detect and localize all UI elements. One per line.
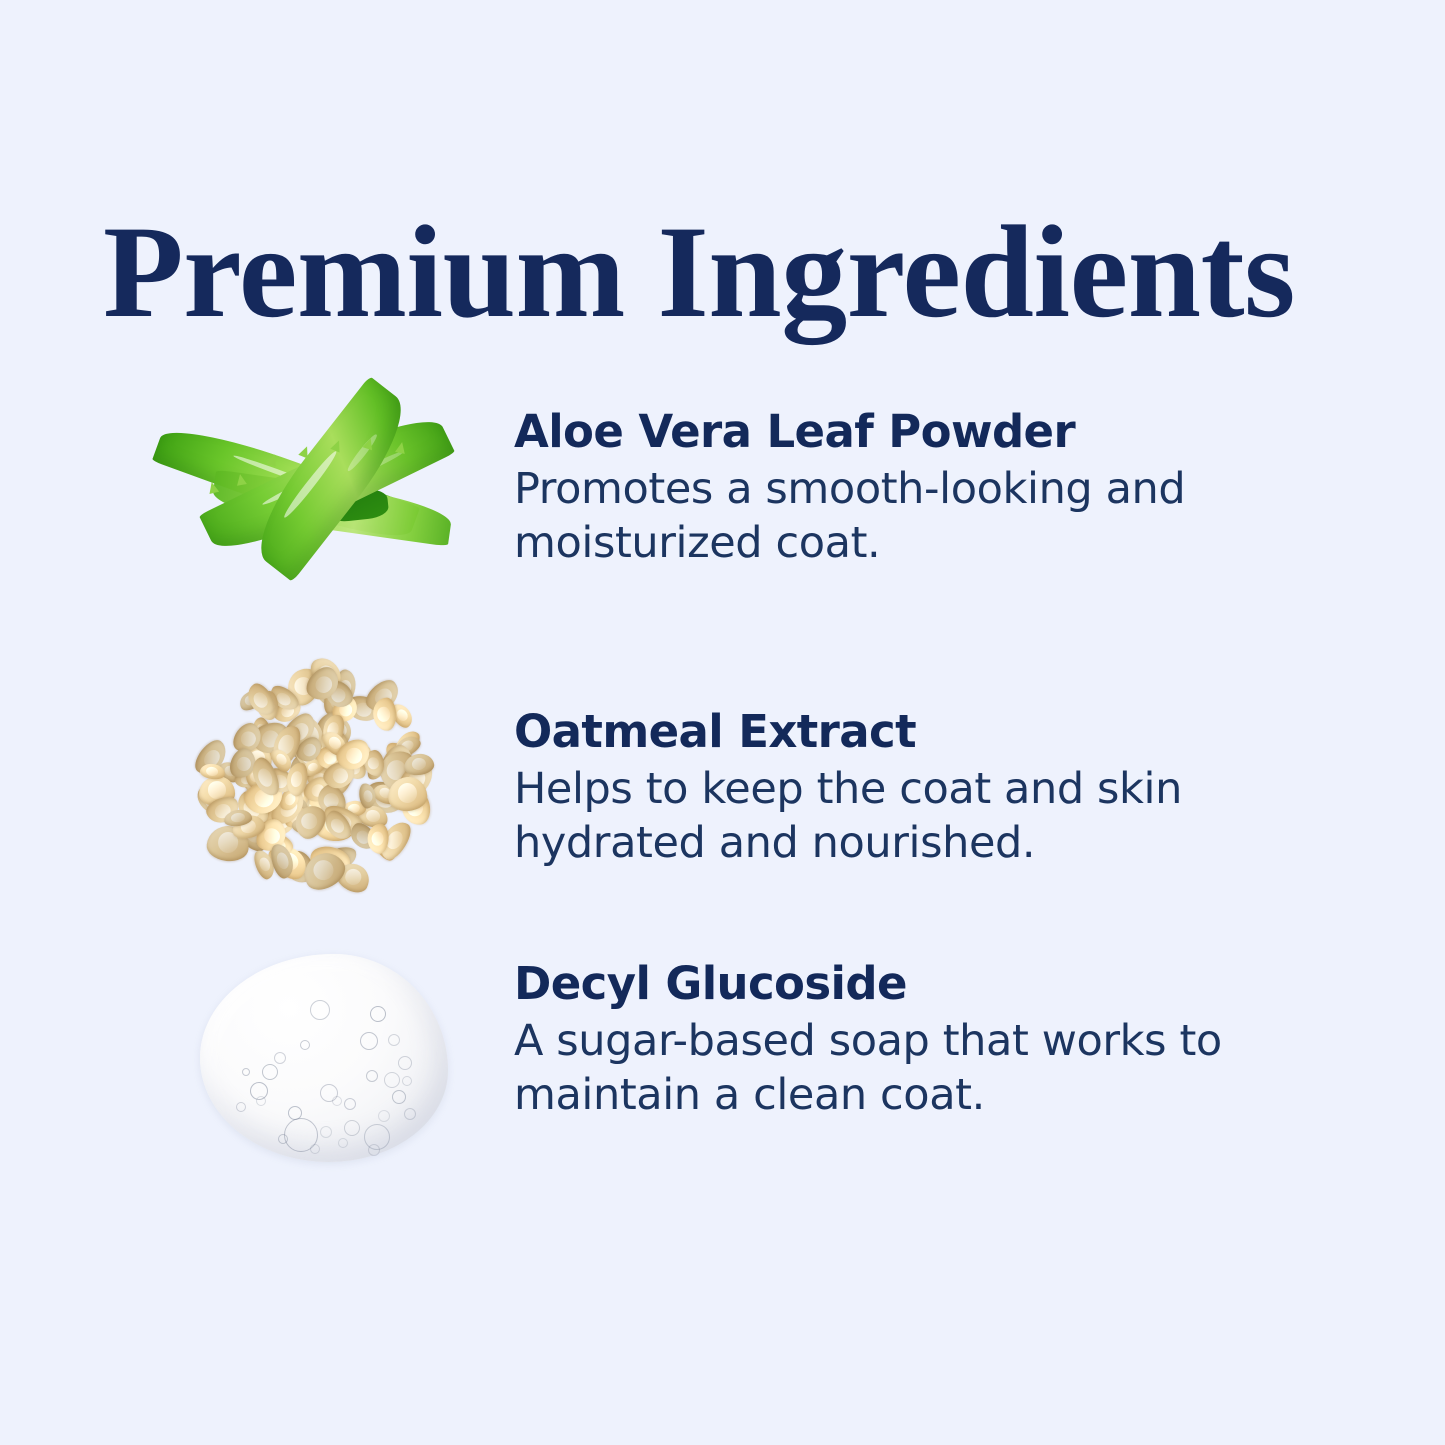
gel-bubble bbox=[320, 1126, 332, 1138]
gel-bubble bbox=[332, 1096, 342, 1106]
gel-bubble bbox=[368, 1144, 380, 1156]
gel-bubble bbox=[388, 1034, 400, 1046]
gel-bubble bbox=[392, 1090, 406, 1104]
gel-bubble bbox=[300, 1040, 310, 1050]
gel-bubble bbox=[262, 1064, 278, 1080]
aloe-vera-leaves-icon bbox=[140, 380, 470, 620]
ingredient-text-block: Aloe Vera Leaf Powder Promotes a smooth-… bbox=[514, 408, 1304, 570]
gel-bubble bbox=[398, 1056, 412, 1070]
gel-bubble bbox=[366, 1070, 378, 1082]
gel-bubble bbox=[242, 1068, 250, 1076]
gel-bubble bbox=[344, 1098, 356, 1110]
gel-bubble bbox=[360, 1032, 378, 1050]
gel-bubble bbox=[278, 1134, 288, 1144]
page-title: Premium Ingredients bbox=[103, 206, 1343, 338]
gel-bubble bbox=[310, 1144, 320, 1154]
gel-bubble bbox=[236, 1102, 246, 1112]
ingredient-name: Decyl Glucoside bbox=[514, 960, 1304, 1008]
gel-bubble bbox=[378, 1110, 390, 1122]
gel-bubble bbox=[370, 1006, 386, 1022]
gel-bubble bbox=[256, 1096, 266, 1106]
gel-bubble bbox=[310, 1000, 330, 1020]
ingredient-text-block: Oatmeal Extract Helps to keep the coat a… bbox=[514, 708, 1304, 870]
ingredient-name: Aloe Vera Leaf Powder bbox=[514, 408, 1304, 456]
gel-bubble bbox=[384, 1072, 400, 1088]
ingredient-description: Helps to keep the coat and skin hydrated… bbox=[514, 762, 1274, 870]
ingredient-text-block: Decyl Glucoside A sugar-based soap that … bbox=[514, 960, 1304, 1122]
ingredient-name: Oatmeal Extract bbox=[514, 708, 1304, 756]
oatmeal-flakes-icon bbox=[140, 650, 470, 890]
ingredient-description: Promotes a smooth-looking and moisturize… bbox=[514, 462, 1274, 570]
oat-flake bbox=[373, 697, 397, 731]
premium-ingredients-panel: Premium Ingredients bbox=[0, 0, 1445, 1445]
gel-bubble bbox=[338, 1138, 348, 1148]
gel-droplet-icon bbox=[140, 930, 470, 1170]
gel-bubble bbox=[402, 1076, 412, 1086]
gel-bubble bbox=[274, 1052, 286, 1064]
ingredient-description: A sugar-based soap that works to maintai… bbox=[514, 1014, 1274, 1122]
gel-bubble bbox=[344, 1120, 360, 1136]
gel-bubble bbox=[404, 1108, 416, 1120]
